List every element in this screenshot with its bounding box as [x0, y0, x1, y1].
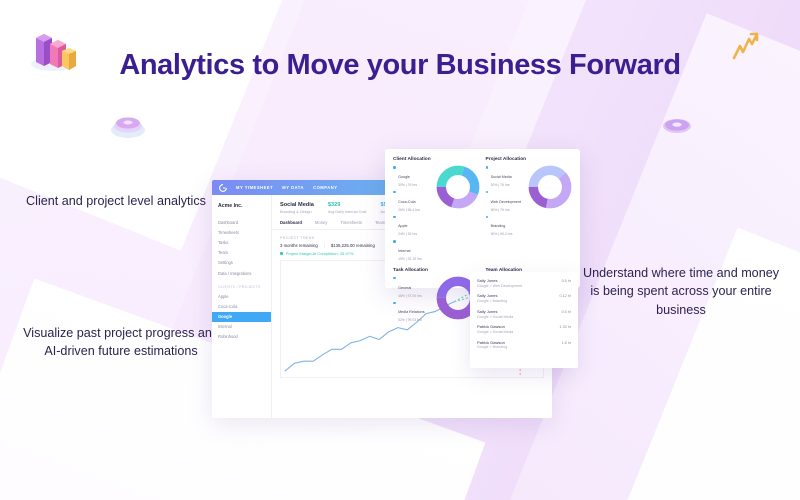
entry-path: Google > Branding: [477, 299, 571, 303]
caption-visualize-progress: Visualize past project progress and AI-d…: [18, 324, 224, 361]
legend-dot-icon: [486, 216, 489, 219]
entry-path: Google > Branding: [477, 345, 571, 349]
entry-hours: 1.6 hr: [562, 341, 571, 345]
client-allocation-donut[interactable]: [436, 165, 480, 214]
legend-dot-icon: [393, 216, 396, 219]
legend-label: General: [398, 286, 411, 290]
legend-item: Branding 30% | 65.2 hrs: [486, 214, 526, 236]
metric-daily-internal-cost: $329 Avg Daily Internal Cost: [328, 202, 367, 214]
legend-label: Branding: [491, 224, 506, 228]
legend-item: Web Development 30% | 76 hrs: [486, 190, 526, 212]
legend-dot-icon: [393, 277, 396, 280]
entry-hours: 1.33 hr: [560, 325, 571, 329]
legend-item: Social Media 30% | 76 hrs: [486, 165, 526, 187]
project-allocation-legend: Social Media 30% | 76 hrs Web Developmen…: [486, 165, 526, 239]
metric-1-value: $329: [328, 202, 367, 208]
legend-dot-icon: [393, 191, 396, 194]
list-item[interactable]: Sally Jones 0.12 hr Google > Branding: [477, 293, 571, 303]
nav-item-my-data[interactable]: MY DATA: [282, 185, 304, 190]
list-item[interactable]: Patrick Dawson 1.33 hr Google > Social M…: [477, 324, 571, 334]
entry-hours: 0.5 hr: [562, 279, 571, 283]
nav-item-company[interactable]: COMPANY: [313, 185, 337, 190]
client-allocation-title: Client Allocation: [393, 157, 480, 162]
sidebar-item-data-integrations[interactable]: Data / Integrations: [212, 268, 271, 278]
metric-1-label: Avg Daily Internal Cost: [328, 210, 367, 214]
legend-value: 15% | 32.15 hrs: [398, 257, 422, 261]
nav-item-my-timesheet[interactable]: MY TIMESHEET: [236, 185, 273, 190]
legend-dot-icon: [486, 191, 489, 194]
legend-value: 52% | 99.03 hrs: [398, 318, 424, 322]
entry-path: Google > Web Development: [477, 284, 571, 288]
app-sidebar: Acme Inc. Dashboard Timesheets Tasks Tea…: [212, 195, 272, 418]
status-dot-icon: [280, 252, 283, 255]
legend-item: Internal 15% | 32.15 hrs: [393, 239, 433, 261]
legend-value: 24% | 52 hrs: [398, 232, 417, 236]
legend-label: Social Media: [491, 175, 512, 179]
entry-hours: 0.12 hr: [560, 294, 571, 298]
sidebar-client-apple[interactable]: Apple: [212, 291, 271, 301]
legend-label: Web Development: [491, 200, 521, 204]
entry-person: Patrick Dawson: [477, 340, 505, 345]
project-subtitle: Branding & Design: [280, 210, 314, 214]
project-name-block: Social Media Branding & Design: [280, 202, 314, 214]
task-allocation-widget: Task Allocation General 48% | 97.00 hrs …: [393, 268, 480, 350]
project-name: Social Media: [280, 202, 314, 208]
list-item[interactable]: Sally Jones 0.5 hr Google > Social Media: [477, 309, 571, 319]
sidebar-item-settings[interactable]: Settings: [212, 258, 271, 268]
sidebar-item-team[interactable]: Team: [212, 248, 271, 258]
legend-value: 30% | 76 hrs: [491, 208, 521, 212]
legend-item: Coca-Cola 26% | 56.4 hrs: [393, 190, 433, 212]
money-remaining: $135,225.00 remaining: [331, 243, 375, 248]
legend-dot-icon: [393, 302, 396, 305]
sidebar-item-tasks[interactable]: Tasks: [212, 237, 271, 247]
project-allocation-title: Project Allocation: [486, 157, 573, 162]
project-allocation-donut[interactable]: [528, 165, 572, 214]
torus-shape-icon: [660, 112, 694, 138]
legend-label: Coca-Cola: [398, 200, 415, 204]
sidebar-divider: [212, 278, 271, 285]
client-allocation-legend: Google 30% | 76 hrs Coca-Cola 26% | 56.4…: [393, 165, 433, 264]
entry-person: Sally Jones: [477, 293, 497, 298]
entry-path: Google > Social Media: [477, 315, 571, 319]
caption-understand-spend: Understand where time and money is being…: [578, 264, 784, 319]
legend-value: 26% | 56.4 hrs: [398, 208, 420, 212]
stats-divider: |: [324, 243, 325, 248]
sidebar-item-dashboard[interactable]: Dashboard: [212, 217, 271, 227]
project-margin-text: Project Margin At Completion: 25.97%: [286, 251, 354, 256]
legend-label: Google: [398, 175, 410, 179]
task-allocation-title: Task Allocation: [393, 268, 480, 273]
legend-label: Apple: [398, 224, 407, 228]
entry-person: Patrick Dawson: [477, 324, 505, 329]
entry-person: Sally Jones: [477, 278, 497, 283]
list-item[interactable]: Patrick Dawson 1.6 hr Google > Branding: [477, 340, 571, 350]
legend-label: Media Relations: [398, 310, 424, 314]
tab-dashboard[interactable]: Dashboard: [280, 220, 302, 225]
legend-item: Media Relations 52% | 99.03 hrs: [393, 300, 433, 322]
entry-hours: 0.5 hr: [562, 310, 571, 314]
entry-path: Google > Social Media: [477, 330, 571, 334]
legend-value: 48% | 97.00 hrs: [398, 294, 422, 298]
tab-timesheets[interactable]: Timesheets: [340, 220, 362, 225]
entry-person: Sally Jones: [477, 309, 497, 314]
sidebar-client-internal[interactable]: Internal: [212, 322, 271, 332]
sidebar-item-timesheets[interactable]: Timesheets: [212, 227, 271, 237]
legend-value: 30% | 76 hrs: [491, 183, 512, 187]
time-remaining: 3 months remaining: [280, 243, 318, 248]
torus-shape-icon: [108, 110, 148, 140]
legend-item: Apple 24% | 52 hrs: [393, 214, 433, 236]
app-logo-icon[interactable]: [219, 184, 227, 192]
sidebar-client-google[interactable]: Google: [212, 312, 271, 322]
client-allocation-widget: Client Allocation Google 30% | 76 hrs Co…: [393, 157, 480, 264]
time-entries-card: Sally Jones 0.5 hr Google > Web Developm…: [470, 272, 578, 368]
legend-dot-icon: [486, 166, 489, 169]
list-item[interactable]: Sally Jones 0.5 hr Google > Web Developm…: [477, 278, 571, 288]
legend-value: 30% | 65.2 hrs: [491, 232, 513, 236]
legend-item: General 48% | 97.00 hrs: [393, 276, 433, 298]
legend-dot-icon: [393, 240, 396, 243]
sidebar-client-coca-cola[interactable]: Coca-Cola: [212, 301, 271, 311]
allocation-card: Client Allocation Google 30% | 76 hrs Co…: [385, 149, 580, 288]
org-name: Acme Inc.: [212, 203, 271, 217]
task-allocation-legend: General 48% | 97.00 hrs Media Relations …: [393, 276, 433, 325]
legend-value: 30% | 76 hrs: [398, 183, 417, 187]
legend-dot-icon: [393, 166, 396, 169]
project-allocation-widget: Project Allocation Social Media 30% | 76…: [486, 157, 573, 264]
page-title: Analytics to Move your Business Forward: [0, 50, 800, 82]
caption-client-project-analytics: Client and project level analytics: [18, 192, 214, 210]
tab-team[interactable]: Team: [375, 220, 385, 225]
legend-item: Google 30% | 76 hrs: [393, 165, 433, 187]
legend-label: Internal: [398, 249, 410, 253]
tab-money[interactable]: Money: [315, 220, 328, 225]
sidebar-client-robinhood[interactable]: Robinhood: [212, 332, 271, 342]
